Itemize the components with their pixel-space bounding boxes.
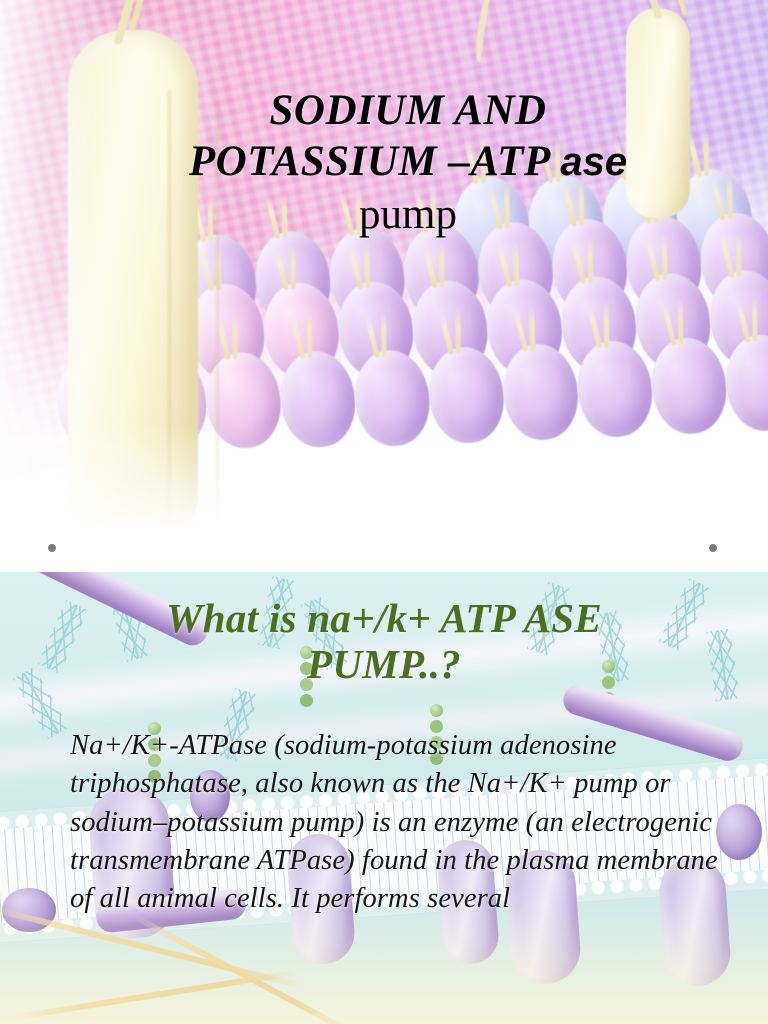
slide-1-title: SODIUM AND POTASSIUM –ATP ase pump <box>78 86 738 239</box>
heading-line-1: What is na+/k+ ATP ASE <box>166 595 602 641</box>
glycoprotein-bead-icon <box>430 704 443 717</box>
title-line-1: SODIUM AND <box>78 86 738 135</box>
page-marker-dot-left <box>48 544 56 552</box>
slide-2-heading: What is na+/k+ ATP ASE PUMP..? <box>46 596 722 688</box>
heading-line-2: PUMP..? <box>46 642 722 688</box>
document-page: SODIUM AND POTASSIUM –ATP ase pump <box>0 0 768 1024</box>
cytosol-fade-graphic <box>0 906 768 1024</box>
title-line-2: POTASSIUM –ATP ase <box>78 137 738 186</box>
slide-1[interactable]: SODIUM AND POTASSIUM –ATP ase pump <box>0 0 768 572</box>
slide-2-body-text: Na+/K+-ATPase (sodium-potassium adenosin… <box>70 727 720 919</box>
title-line-3: pump <box>78 190 738 239</box>
page-marker-dot-right <box>709 544 717 552</box>
bottom-fade-overlay <box>0 422 768 572</box>
slide-2[interactable]: What is na+/k+ ATP ASE PUMP..? Na+/K+-AT… <box>0 572 768 1024</box>
title-line-2-main: POTASSIUM –ATP <box>189 138 561 185</box>
protein-cap-graphic <box>716 804 762 860</box>
title-line-2-suffix: ase <box>560 140 627 184</box>
